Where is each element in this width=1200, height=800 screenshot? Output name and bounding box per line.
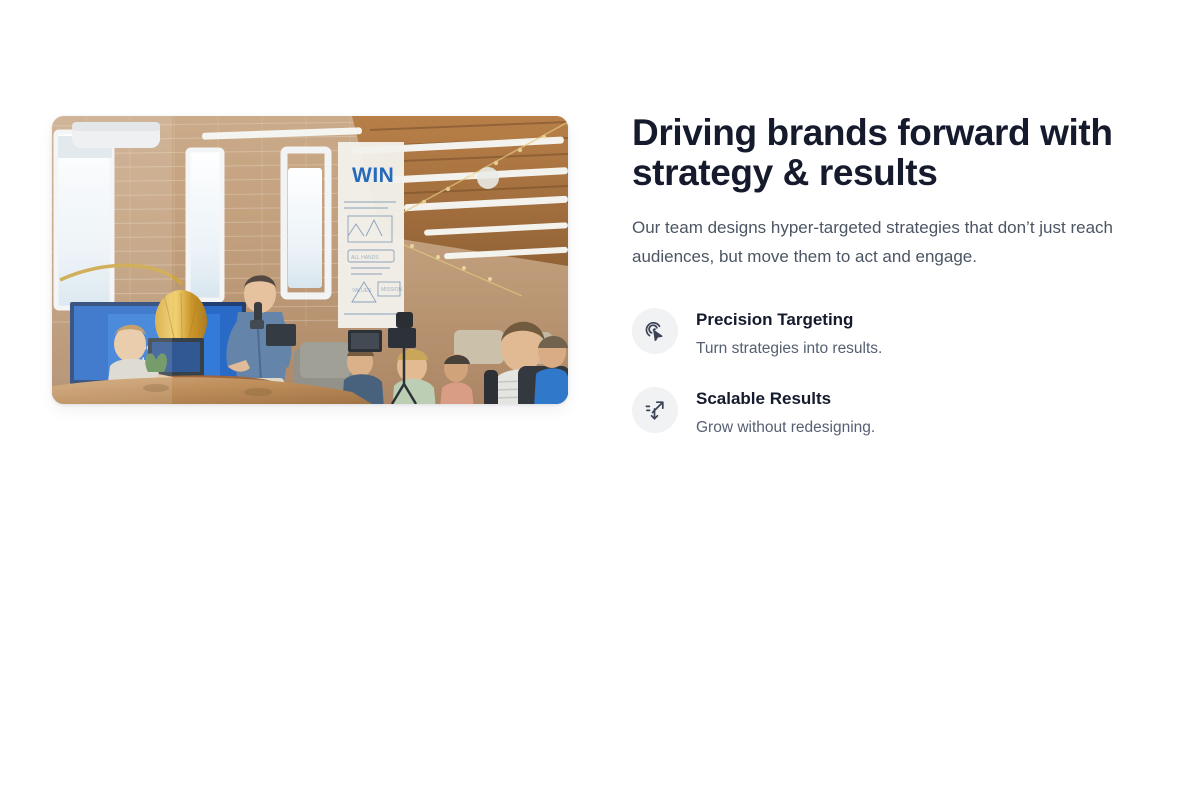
feature-title: Scalable Results — [696, 387, 875, 411]
feature-list: Precision Targeting Turn strategies into… — [632, 271, 1152, 439]
hero-section: WIN ALL HANDS VALUES MISSION — [0, 0, 1200, 800]
feature-icon-badge — [632, 308, 678, 354]
hero-copy-column: Driving brands forward with strategy & r… — [632, 113, 1152, 439]
feature-text: Scalable Results Grow without redesignin… — [696, 386, 875, 439]
growth-arrow-icon — [643, 398, 667, 422]
hero-media-column: WIN ALL HANDS VALUES MISSION — [52, 116, 568, 404]
hero-subcopy: Our team designs hyper-targeted strategi… — [632, 193, 1148, 271]
feature-text: Precision Targeting Turn strategies into… — [696, 307, 882, 360]
feature-item-precision-targeting: Precision Targeting Turn strategies into… — [632, 307, 1152, 360]
hero-image: WIN ALL HANDS VALUES MISSION — [52, 116, 568, 404]
cursor-click-icon — [643, 319, 667, 343]
feature-description: Turn strategies into results. — [696, 332, 882, 360]
feature-icon-badge — [632, 387, 678, 433]
feature-title: Precision Targeting — [696, 308, 882, 332]
feature-description: Grow without redesigning. — [696, 411, 875, 439]
office-all-hands-photo: WIN ALL HANDS VALUES MISSION — [52, 116, 568, 404]
feature-item-scalable-results: Scalable Results Grow without redesignin… — [632, 386, 1152, 439]
page-title: Driving brands forward with strategy & r… — [632, 113, 1132, 193]
